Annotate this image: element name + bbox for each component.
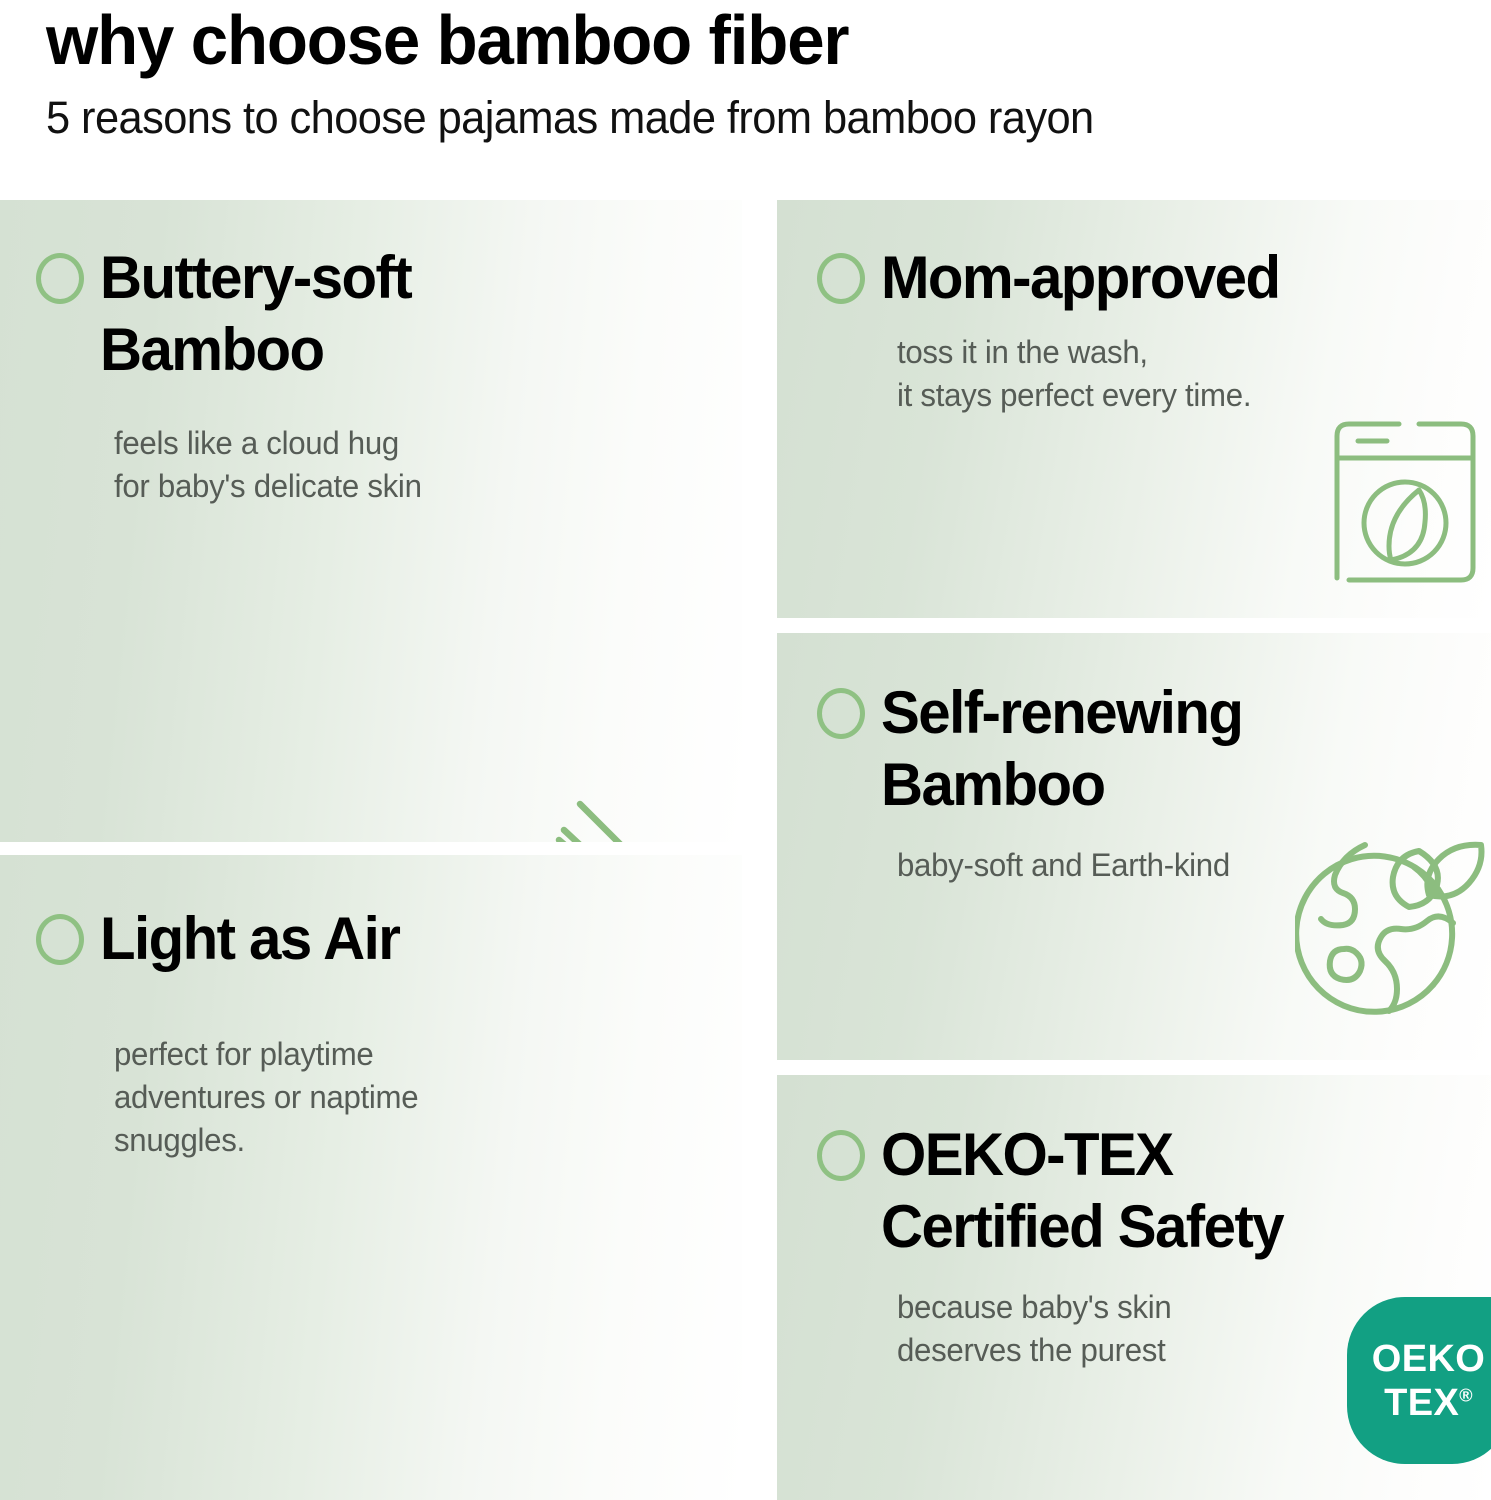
card-subtitle: toss it in the wash, it stays perfect ev… [897, 331, 1251, 417]
card-title: OEKO-TEX Certified Safety [881, 1119, 1283, 1263]
infographic-page: why choose bamboo fiber 5 reasons to cho… [0, 0, 1491, 1500]
card-header-self-renewing-bamboo: Self-renewing Bamboo [817, 677, 1254, 821]
registered-mark: ® [1459, 1385, 1473, 1405]
circle-outline-icon [36, 253, 84, 304]
card-title: Self-renewing Bamboo [881, 677, 1242, 821]
card-header-light-as-air: Light as Air [36, 903, 409, 975]
oeko-badge-tex-text: TEX [1384, 1382, 1459, 1424]
card-header-buttery-soft-bamboo: Buttery-soft Bamboo [36, 242, 421, 386]
earth-leaf-icon [1295, 823, 1485, 1018]
card-subtitle: because baby's skin deserves the purest [897, 1286, 1171, 1372]
card-subtitle: feels like a cloud hug for baby's delica… [114, 422, 422, 508]
card-subtitle: baby-soft and Earth-kind [897, 844, 1230, 887]
card-title: Light as Air [100, 903, 399, 975]
card-header-mom-approved: Mom-approved [817, 242, 1292, 314]
card-self-renewing-bamboo: Self-renewing Bamboo baby-soft and Earth… [777, 633, 1491, 1060]
circle-outline-icon [817, 688, 865, 739]
card-subtitle: perfect for playtime adventures or napti… [114, 1033, 418, 1162]
card-oeko-tex-certified-safety: OEKO-TEX Certified Safety because baby's… [777, 1075, 1491, 1500]
oeko-tex-badge: OEKO TEX® [1347, 1297, 1491, 1464]
card-mom-approved: Mom-approved toss it in the wash, it sta… [777, 200, 1491, 618]
card-light-as-air: Light as Air perfect for playtime advent… [0, 855, 742, 1500]
card-buttery-soft-bamboo: Buttery-soft Bamboo feels like a cloud h… [0, 200, 742, 842]
washing-machine-icon [1325, 418, 1485, 590]
page-title: why choose bamboo fiber [46, 0, 848, 82]
oeko-badge-line1: OEKO [1372, 1340, 1486, 1378]
card-header-oeko-tex: OEKO-TEX Certified Safety [817, 1119, 1296, 1263]
oeko-badge-line2: TEX® [1384, 1384, 1473, 1422]
circle-outline-icon [36, 914, 84, 965]
hand-touch-fabric-icon [496, 792, 724, 842]
circle-outline-icon [817, 253, 865, 304]
card-title: Buttery-soft Bamboo [100, 242, 411, 386]
header: why choose bamboo fiber 5 reasons to cho… [0, 0, 1491, 180]
circle-outline-icon [817, 1130, 865, 1181]
page-subtitle: 5 reasons to choose pajamas made from ba… [46, 90, 1094, 146]
card-title: Mom-approved [881, 242, 1280, 314]
